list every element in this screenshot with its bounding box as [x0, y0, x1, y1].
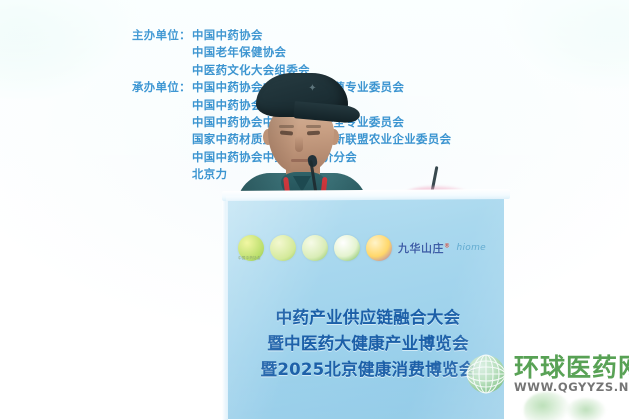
- registered-mark: ®: [444, 242, 451, 249]
- podium-brand-en: hiome: [457, 243, 487, 253]
- watermark-text: 环球医药网® WWW.QGYYZS.NET: [514, 355, 629, 394]
- credit-value: 中国老年保健协会: [192, 45, 286, 59]
- speaker-brow-left: [279, 125, 294, 128]
- event-title-line-2: 暨中医药大健康产业博览会: [234, 331, 502, 357]
- credit-label: 主办单位：: [132, 27, 192, 44]
- speaker-brow-right: [306, 125, 321, 128]
- credit-row: 中国老年保健协会: [132, 44, 552, 61]
- sponsor-logo-2-icon: [270, 235, 296, 261]
- podium-left-edge: [222, 196, 228, 420]
- screenshot-canvas: 主办单位：中国中药协会 中国老年保健协会 中医药文化大会组委会 承办单位：中国中…: [0, 0, 629, 420]
- credit-row: 主办单位：中国中药协会: [132, 27, 552, 44]
- speaker-eye-right: [307, 131, 320, 136]
- event-title: 中药产业供应链融合大会 暨中医药大健康产业博览会 暨2025北京健康消费博览会: [234, 305, 502, 383]
- sponsor-logo-5-icon: [366, 235, 392, 261]
- watermark-brand: 环球医药网®: [514, 355, 629, 380]
- podium-top-surface: [222, 189, 510, 201]
- event-title-line-3: 暨2025北京健康消费博览会: [234, 357, 502, 383]
- credit-value: 北京力: [192, 167, 227, 181]
- cap-star-icon: ✦: [308, 84, 317, 93]
- sponsor-logo-caption: 中国中药协会: [238, 256, 261, 261]
- credit-value: 中国中药协会: [192, 28, 263, 42]
- speaker-mouth: [291, 159, 309, 162]
- sponsor-logo-3-icon: [302, 235, 328, 261]
- watermark-url: WWW.QGYYZS.NET: [514, 382, 629, 394]
- podium-brand-cn-text: 九华山庄: [398, 242, 444, 255]
- watermark-leaf-2: [566, 398, 606, 420]
- sponsor-logo-4-icon: [334, 235, 360, 261]
- event-title-line-1: 中药产业供应链融合大会: [234, 305, 502, 331]
- watermark-leaf-1: [524, 392, 570, 420]
- podium-brand-cn: 九华山庄®: [398, 240, 451, 256]
- podium-logo-strip: 九华山庄® hiome: [238, 231, 494, 265]
- credit-label: 承办单位：: [132, 79, 192, 96]
- watermark-brand-text: 环球医药网: [514, 353, 629, 382]
- speaker-nose: [295, 136, 303, 152]
- site-watermark: 环球医药网® WWW.QGYYZS.NET: [464, 352, 629, 396]
- globe-icon: [464, 352, 508, 396]
